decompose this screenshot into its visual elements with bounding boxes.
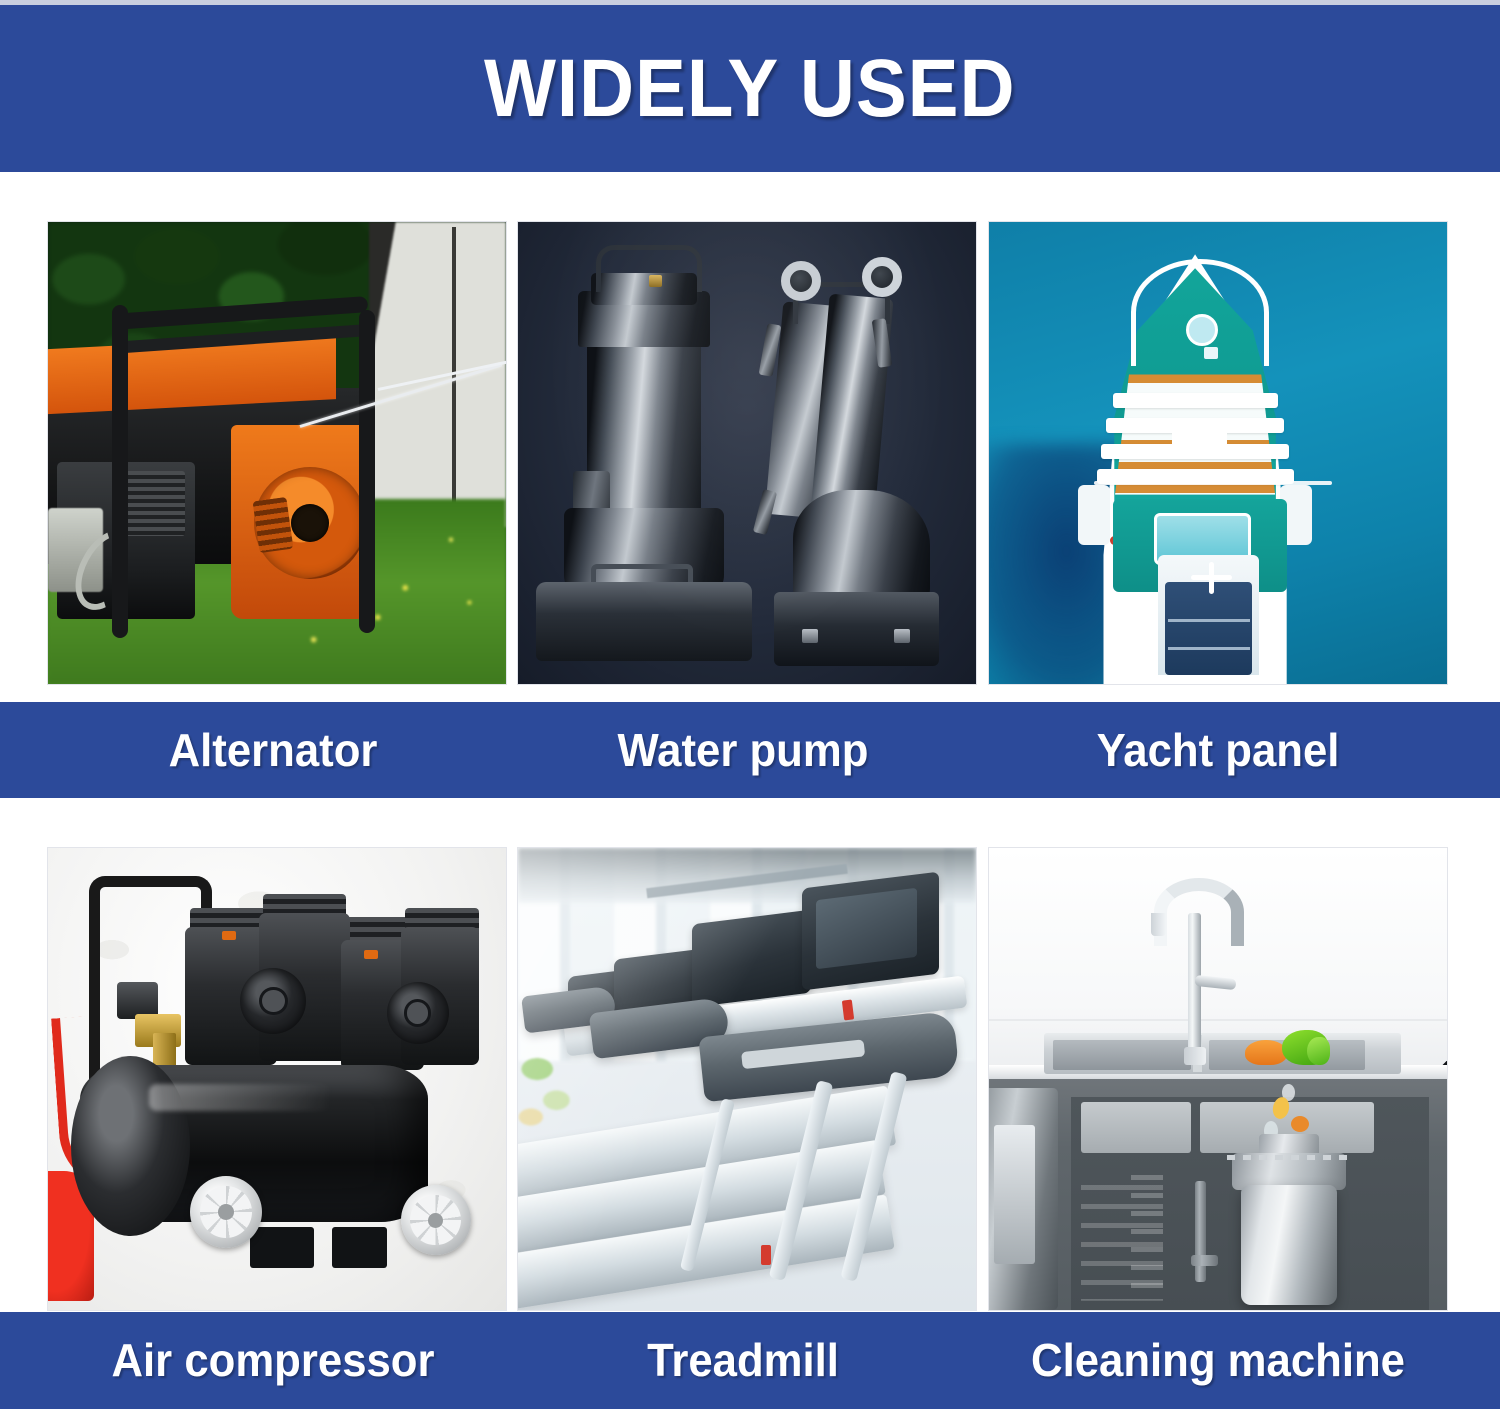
deck-band-1 xyxy=(1113,393,1278,408)
compressor-wheel-rear xyxy=(401,1185,471,1255)
label-yacht-panel: Yacht panel xyxy=(990,702,1446,799)
image-row-2 xyxy=(0,798,1500,1270)
garbage-disposal-unit xyxy=(1241,1185,1337,1305)
label-alternator: Alternator xyxy=(50,702,497,799)
port-side-platform xyxy=(1078,485,1110,545)
wheel-spokes-rear xyxy=(410,1195,460,1245)
frame-bar-right xyxy=(359,310,375,633)
tank-foot-1 xyxy=(250,1227,314,1269)
bridge-deck-line-2 xyxy=(1168,647,1250,650)
faucet-spout xyxy=(1151,913,1166,936)
drain-pipe-vertical xyxy=(1195,1181,1206,1283)
mid-railing xyxy=(1094,481,1332,485)
label-band-row-1: Alternator Water pump Yacht panel xyxy=(0,702,1500,799)
disposal-mounting-tabs xyxy=(1227,1155,1351,1160)
food-scrap-carrot xyxy=(1245,1040,1286,1065)
infographic-page: WIDELY USED xyxy=(0,0,1500,1412)
wall-seam xyxy=(989,1019,1447,1021)
motor-indicator-2 xyxy=(364,950,378,959)
dishwasher-door xyxy=(994,1125,1035,1264)
tank-foot-2 xyxy=(332,1227,387,1269)
bridge-deck-line-1 xyxy=(1168,619,1250,622)
cabinet-panel-left xyxy=(1081,1102,1191,1153)
bridge-windows xyxy=(1165,582,1252,674)
label-treadmill: Treadmill xyxy=(520,1312,967,1409)
yacht-aerial-photo xyxy=(989,222,1447,684)
motor-fan-1 xyxy=(240,968,306,1034)
portable-generator-photo xyxy=(48,222,506,684)
motor-fan-2 xyxy=(387,982,449,1044)
bow-hatch xyxy=(1204,347,1218,359)
air-tank-end-cap xyxy=(71,1056,190,1236)
label-cleaning-machine: Cleaning machine xyxy=(990,1312,1446,1409)
motor-indicator-1 xyxy=(222,931,236,940)
deck-mast xyxy=(1191,562,1232,594)
flow-arrows-right xyxy=(1131,1162,1163,1301)
header-banner: WIDELY USED xyxy=(0,5,1500,172)
compressor-wheel-front xyxy=(190,1176,262,1248)
window-light-glare xyxy=(518,848,976,1310)
building-frame xyxy=(452,227,456,513)
faucet-base xyxy=(1184,1047,1206,1065)
studio-light-glow xyxy=(518,222,976,684)
bow-railing xyxy=(1131,259,1269,366)
sink-bowl-left xyxy=(1053,1040,1190,1070)
air-compressor-photo xyxy=(48,848,506,1310)
gym-treadmills-photo xyxy=(518,848,976,1310)
frame-bar-left xyxy=(112,305,128,638)
submersible-water-pumps-photo xyxy=(518,222,976,684)
wheel-spokes-front xyxy=(200,1186,252,1238)
faucet-stem xyxy=(1188,913,1201,1061)
drain-pipe-horizontal xyxy=(1191,1255,1218,1266)
mid-superstructure xyxy=(1172,425,1227,453)
image-row-1 xyxy=(0,172,1500,644)
label-water-pump: Water pump xyxy=(520,702,967,799)
air-tank-highlight xyxy=(149,1084,332,1112)
food-scrap-greens xyxy=(1307,1037,1330,1065)
label-band-row-2: Air compressor Treadmill Cleaning machin… xyxy=(0,1312,1500,1409)
page-title: WIDELY USED xyxy=(484,48,1015,130)
label-air-compressor: Air compressor xyxy=(50,1312,497,1409)
kitchen-garbage-disposal-photo xyxy=(989,848,1447,1310)
